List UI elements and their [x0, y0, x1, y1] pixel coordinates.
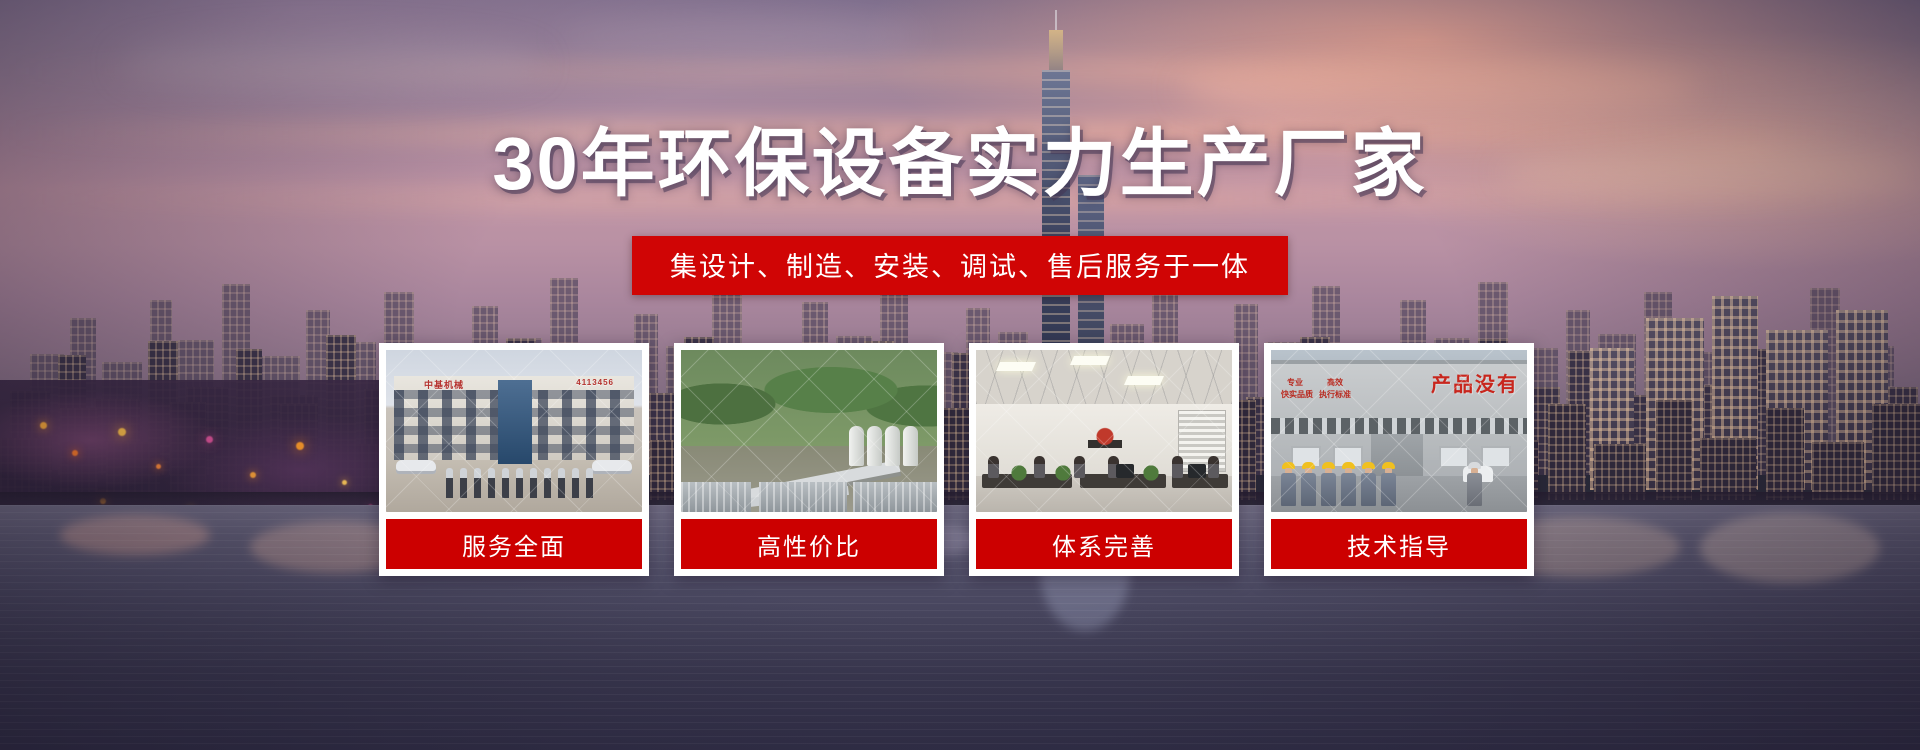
hero-banner: 30年环保设备实力生产厂家 集设计、制造、安装、调试、售后服务于一体 中基机械 … — [0, 0, 1920, 750]
banner-headline: 30年环保设备实力生产厂家 — [0, 104, 1920, 211]
office-interior-photo — [976, 350, 1232, 512]
aerial-production-plant-photo — [681, 350, 937, 512]
building-sign-text: 中基机械 — [424, 378, 464, 391]
building-phone-text: 4113456 — [576, 378, 614, 387]
factory-big-sign-text: 产品没有 — [1431, 368, 1519, 397]
banner-content: 30年环保设备实力生产厂家 集设计、制造、安装、调试、售后服务于一体 中基机械 … — [0, 0, 1920, 750]
feature-card-label: 服务全面 — [386, 519, 642, 569]
feature-card-label: 技术指导 — [1271, 519, 1527, 569]
feature-card-system[interactable]: 体系完善 — [969, 343, 1239, 576]
feature-card-label: 体系完善 — [976, 519, 1232, 569]
feature-card-service[interactable]: 中基机械 4113456 — [379, 343, 649, 576]
feature-card-value[interactable]: 高性价比 — [674, 343, 944, 576]
feature-card-label: 高性价比 — [681, 519, 937, 569]
company-headquarters-photo: 中基机械 4113456 — [386, 350, 642, 512]
feature-card-guidance[interactable]: 产品没有 专业 快实品质 高效 执行标准 — [1264, 343, 1534, 576]
banner-subtitle-wrapper: 集设计、制造、安装、调试、售后服务于一体 — [0, 236, 1920, 295]
factory-slogan-sub-text: 快实品质 — [1281, 390, 1313, 399]
feature-cards: 中基机械 4113456 — [379, 343, 1534, 576]
factory-slogan-sub-text: 执行标准 — [1319, 390, 1351, 399]
banner-subtitle: 集设计、制造、安装、调试、售后服务于一体 — [632, 236, 1288, 295]
factory-workshop-workers-photo: 产品没有 专业 快实品质 高效 执行标准 — [1271, 350, 1527, 512]
factory-slogan-text: 高效 — [1327, 378, 1343, 387]
factory-slogan-text: 专业 — [1287, 378, 1303, 387]
